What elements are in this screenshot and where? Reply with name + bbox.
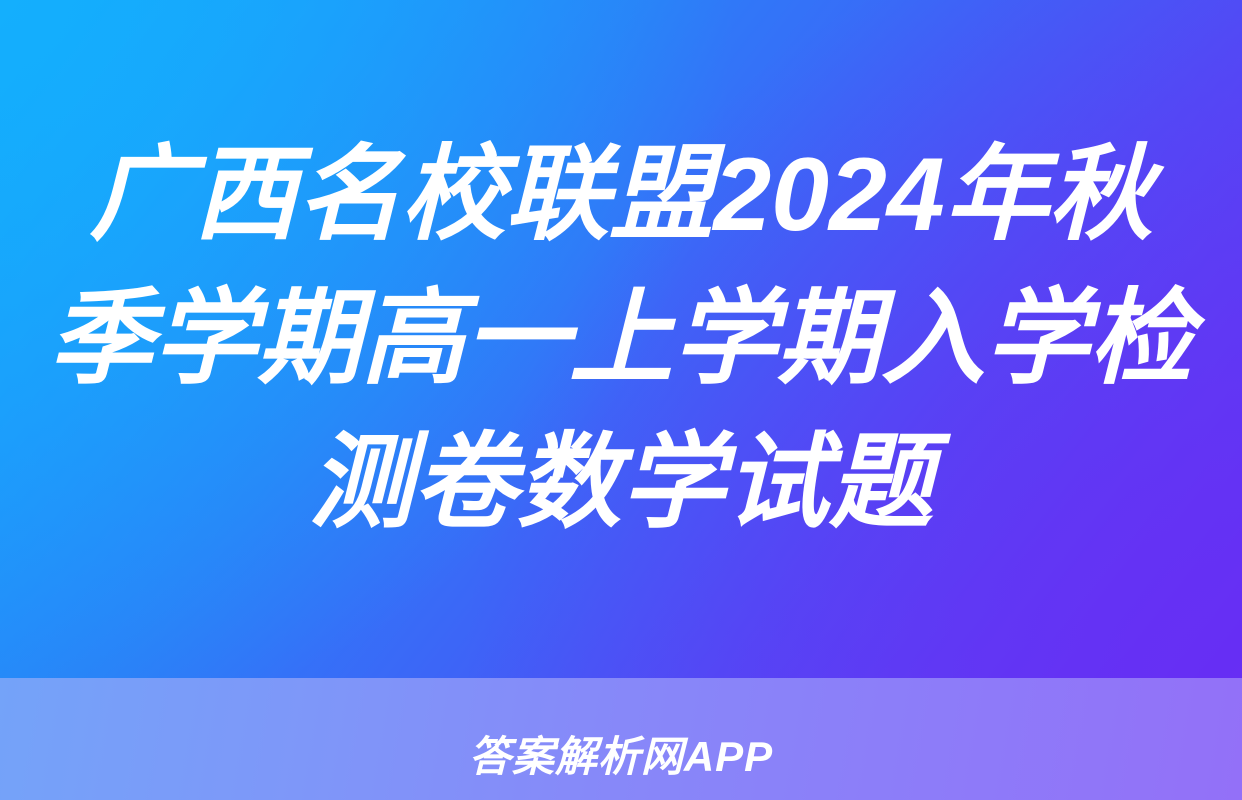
title-line-1: 广西名校联盟2024年秋 (89, 123, 1152, 267)
title-line-3: 测卷数学试题 (309, 411, 933, 555)
app-watermark-text: 答案解析网APP (469, 734, 773, 780)
poster-canvas: 广西名校联盟2024年秋 季学期高一上学期入学检 测卷数学试题 答案解析网APP (0, 0, 1242, 800)
title-line-2: 季学期高一上学期入学检 (49, 267, 1193, 411)
title-block: 广西名校联盟2024年秋 季学期高一上学期入学检 测卷数学试题 (0, 0, 1242, 678)
hero-gradient-panel: 广西名校联盟2024年秋 季学期高一上学期入学检 测卷数学试题 (0, 0, 1242, 678)
footer-watermark-band: 答案解析网APP (0, 678, 1242, 800)
